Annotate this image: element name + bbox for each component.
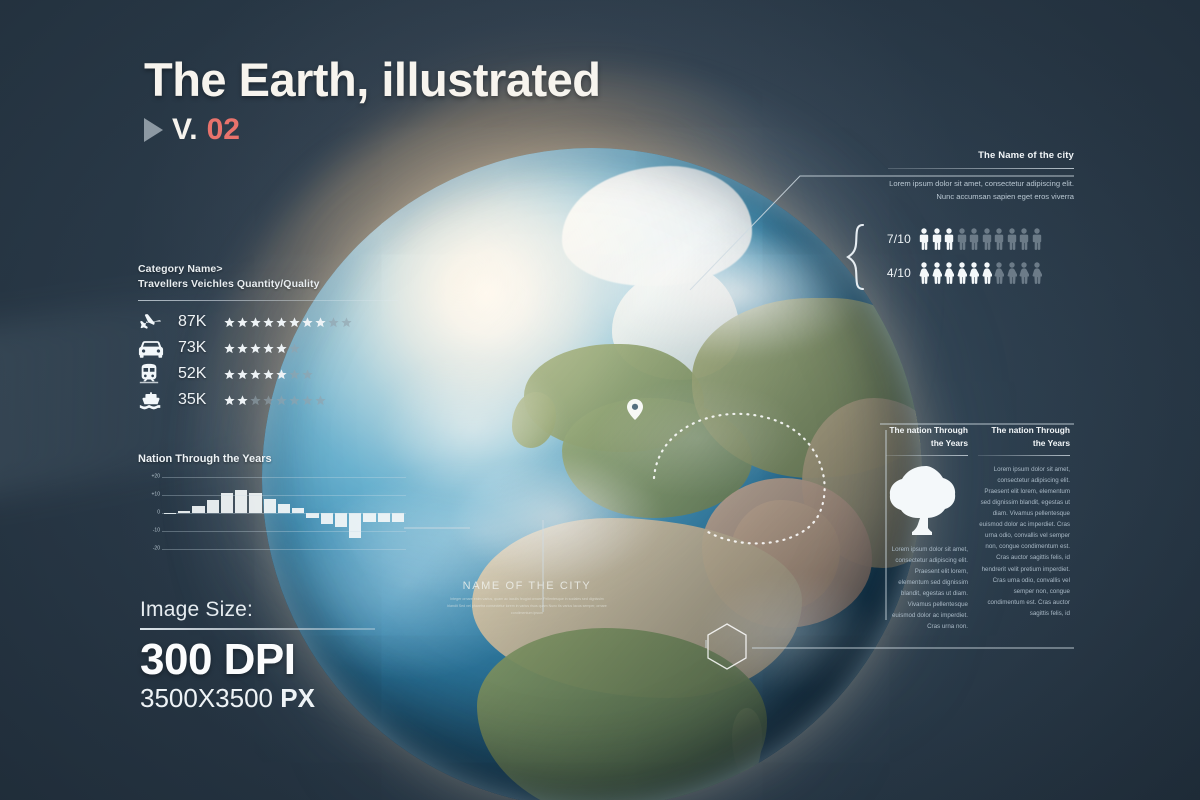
chart-bar <box>264 499 276 513</box>
city-callout-body: Lorem ipsum dolor sit amet, consectetur … <box>888 178 1074 203</box>
chart-bar <box>221 493 233 513</box>
image-size-pixels-value: 3500X3500 <box>140 683 280 713</box>
panel-text-divider <box>978 455 1070 456</box>
traveller-value: 87K <box>178 313 224 331</box>
chart-y-tick-label: 0 <box>138 510 160 516</box>
traveller-value: 73K <box>178 339 224 357</box>
chart-bar <box>207 500 219 513</box>
panel-nation-text: The nation Through the Years Lorem ipsum… <box>978 424 1070 619</box>
nation-chart-title: Nation Through the Years <box>138 453 406 465</box>
train-icon <box>138 363 178 385</box>
globe-city-description: Integer ornare enim varius, quam ac iacu… <box>447 596 607 616</box>
male-figure-icon-group <box>919 228 1042 250</box>
chart-bar <box>363 513 375 522</box>
hexagon-marker-icon[interactable] <box>705 622 749 672</box>
image-size-divider <box>140 628 375 630</box>
chart-y-tick-label: -20 <box>138 546 160 552</box>
chart-bar <box>192 506 204 513</box>
chart-gridline <box>162 549 406 550</box>
page-title: The Earth, illustrated <box>144 52 600 107</box>
traveller-value: 52K <box>178 365 224 383</box>
chart-bar <box>235 490 247 513</box>
chart-y-tick-label: +10 <box>138 492 160 498</box>
chart-bar <box>378 513 390 522</box>
rating-stars[interactable] <box>224 343 300 354</box>
map-pin-icon[interactable] <box>627 399 643 420</box>
chart-gridline <box>162 477 406 478</box>
version-prefix: V. <box>172 113 198 147</box>
chart-bar <box>278 504 290 513</box>
rating-stars[interactable] <box>224 395 326 406</box>
travellers-panel: Category Name> Travellers Veichles Quant… <box>138 262 398 413</box>
population-fraction: 7/10 <box>879 232 911 246</box>
city-callout-panel: The Name of the city Lorem ipsum dolor s… <box>888 150 1074 203</box>
female-figure-icon-group <box>919 262 1042 284</box>
traveller-value: 35K <box>178 391 224 409</box>
chart-bar <box>392 513 404 522</box>
image-size-pixels: 3500X3500 PX <box>140 684 375 714</box>
traveller-row: 73K <box>138 335 398 361</box>
chart-gridline <box>162 531 406 532</box>
population-ratio-panel: 7/104/10 <box>845 222 1075 290</box>
triangle-right-icon <box>144 118 163 142</box>
city-callout-title: The Name of the city <box>888 150 1074 161</box>
panel-tree-title: The nation Through the Years <box>886 424 968 449</box>
chart-y-tick-label: -10 <box>138 528 160 534</box>
chart-bar <box>321 513 333 524</box>
travellers-heading: Category Name> Travellers Veichles Quant… <box>138 262 398 292</box>
traveller-row: 87K <box>138 309 398 335</box>
chart-gridline <box>162 513 406 514</box>
image-size-label: Image Size: <box>140 598 375 622</box>
city-callout-divider <box>888 168 1074 169</box>
panel-tree-body: Lorem ipsum dolor sit amet, consectetur … <box>886 544 968 632</box>
car-icon <box>138 339 178 358</box>
image-size-block: Image Size: 300 DPI 3500X3500 PX <box>140 598 375 714</box>
panel-nation-tree: The nation Through the Years Lorem ipsum… <box>886 424 968 632</box>
chart-bar <box>249 493 261 513</box>
image-size-dpi: 300 DPI <box>140 638 375 682</box>
population-fraction: 4/10 <box>879 266 911 280</box>
image-size-pixels-unit: PX <box>280 683 315 713</box>
nation-chart: Nation Through the Years +20+100-10-20 <box>138 453 406 549</box>
nation-chart-plot: +20+100-10-20 <box>138 477 406 549</box>
airplane-icon <box>138 312 178 332</box>
panel-text-body: Lorem ipsum dolor sit amet, consectetur … <box>978 464 1070 618</box>
travellers-divider <box>138 300 398 301</box>
traveller-row: 35K <box>138 387 398 413</box>
category-name-label: Category Name> <box>138 262 398 277</box>
version-row: V. 02 <box>144 113 600 147</box>
infographic-canvas: NAME OF THE CITY Integer ornare enim var… <box>0 0 1200 800</box>
population-rows: 7/104/10 <box>879 222 1075 290</box>
globe-city-label: NAME OF THE CITY <box>447 580 607 592</box>
travellers-rows: 87K73K52K35K <box>138 309 398 413</box>
tree-icon <box>888 464 964 536</box>
chart-bar <box>349 513 361 538</box>
curly-brace-icon <box>845 224 867 290</box>
chart-y-tick-label: +20 <box>138 474 160 480</box>
rating-stars[interactable] <box>224 369 313 380</box>
category-subtitle-label: Travellers Veichles Quantity/Quality <box>138 277 398 292</box>
ship-icon <box>138 391 178 410</box>
rating-stars[interactable] <box>224 317 352 328</box>
dashed-route-icon <box>648 400 838 550</box>
panel-text-title: The nation Through the Years <box>978 424 1070 449</box>
version-number: 02 <box>207 113 240 147</box>
chart-gridline <box>162 495 406 496</box>
traveller-row: 52K <box>138 361 398 387</box>
panel-tree-divider <box>886 455 968 456</box>
chart-bar <box>335 513 347 527</box>
page-header: The Earth, illustrated V. 02 <box>144 52 600 147</box>
globe-city-annotation: NAME OF THE CITY Integer ornare enim var… <box>447 580 607 616</box>
population-row: 4/10 <box>879 256 1075 290</box>
population-row: 7/10 <box>879 222 1075 256</box>
